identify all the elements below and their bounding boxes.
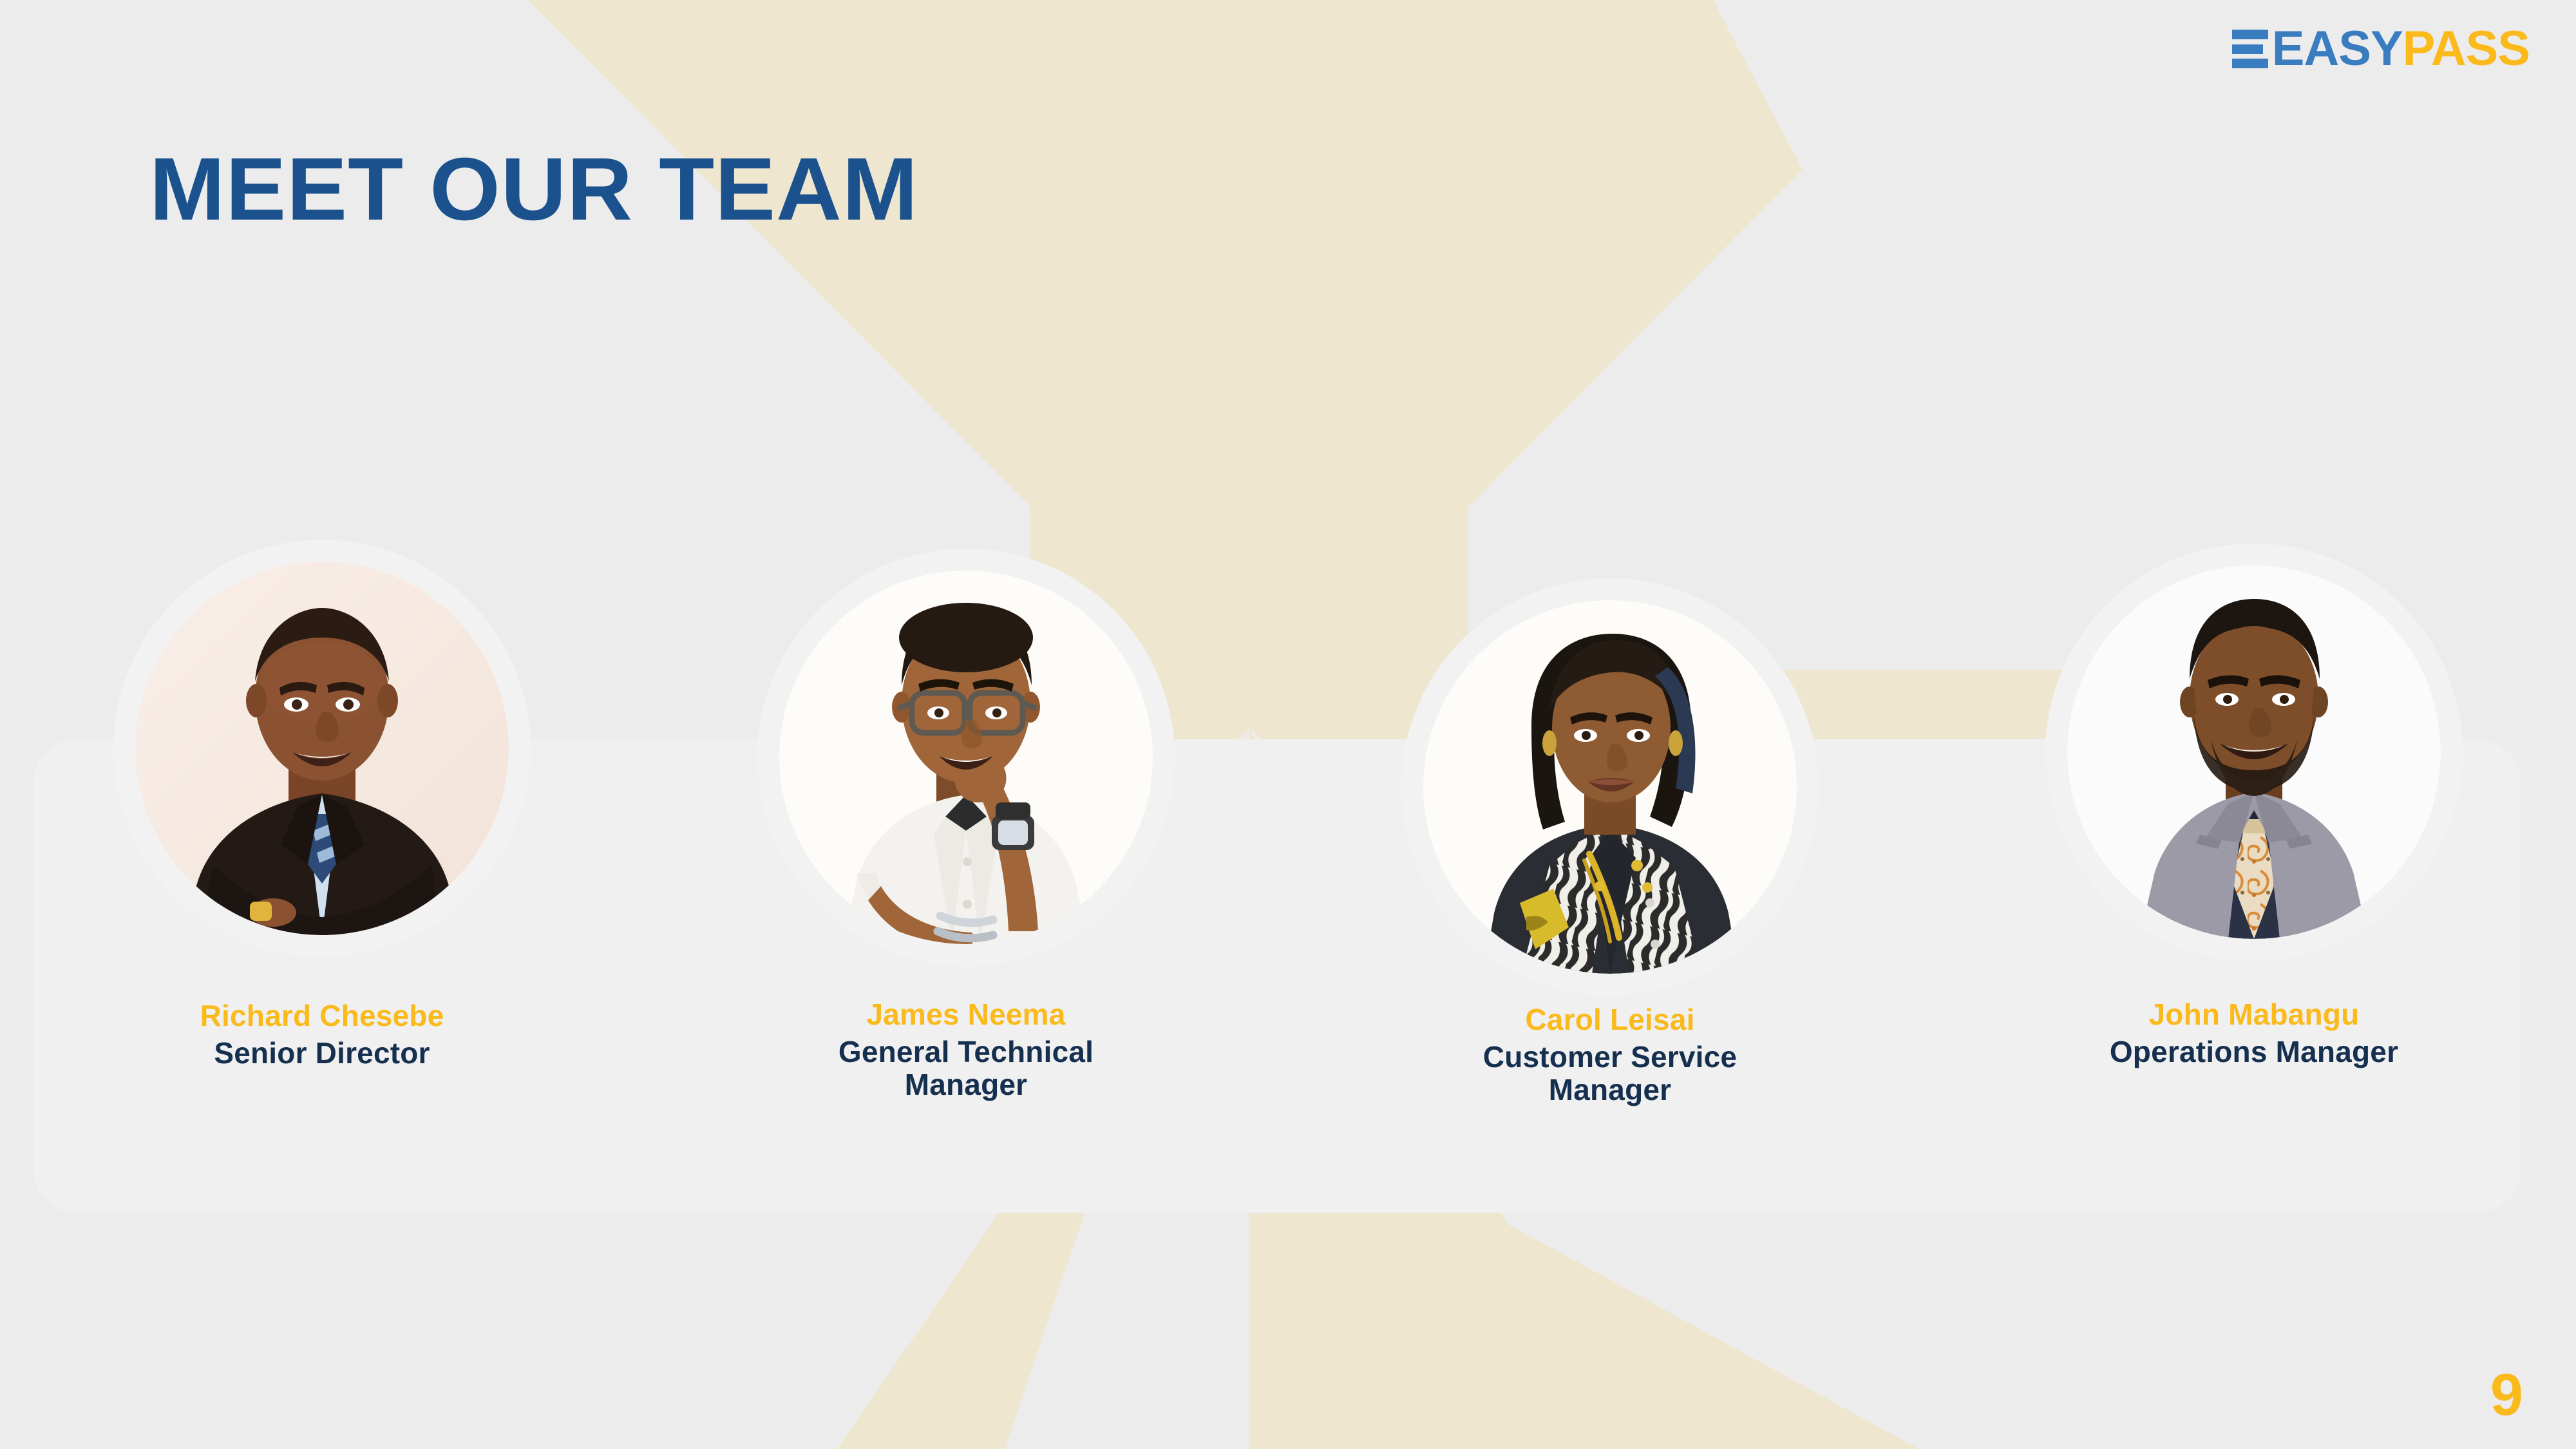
portrait-carol-leisai <box>1423 600 1797 974</box>
member-role: Customer Service Manager <box>1430 1041 1790 1107</box>
member-name: Carol Leisai <box>1525 1003 1694 1037</box>
portrait-richard-chesebe <box>135 562 509 935</box>
member-name: Richard Chesebe <box>200 999 444 1033</box>
portrait-image <box>779 571 1153 944</box>
portrait-james-neema <box>779 571 1153 944</box>
member-role: Operations Manager <box>2110 1036 2398 1069</box>
team-members-row: Richard Chesebe Senior Director <box>0 535 2576 1114</box>
team-member-card[interactable]: Richard Chesebe Senior Director <box>0 535 644 1114</box>
avatar <box>1401 578 1819 996</box>
portrait-image <box>135 562 509 935</box>
member-name: John Mabangu <box>2149 998 2360 1032</box>
avatar <box>113 540 531 957</box>
team-member-card[interactable]: Carol Leisai Customer Service Manager <box>1288 535 1932 1114</box>
team-member-card[interactable]: John Mabangu Operations Manager <box>1932 535 2576 1114</box>
page-title: MEET OUR TEAM <box>149 145 918 234</box>
logo-word-easy: EASY <box>2272 24 2403 73</box>
page-number: 9 <box>2490 1365 2523 1425</box>
portrait-image <box>2067 565 2441 939</box>
portrait-john-mabangu <box>2067 565 2441 939</box>
team-member-card[interactable]: James Neema General Technical Manager <box>644 535 1288 1114</box>
logo-bars-icon <box>2232 30 2268 68</box>
logo-word-pass: PASS <box>2403 24 2530 73</box>
portrait-image <box>1423 600 1797 974</box>
avatar <box>2045 544 2463 961</box>
easypass-logo[interactable]: EASY PASS <box>2232 18 2530 80</box>
member-role: General Technical Manager <box>786 1036 1146 1102</box>
member-role: Senior Director <box>214 1037 430 1070</box>
member-name: James Neema <box>866 998 1065 1032</box>
avatar <box>757 549 1175 966</box>
